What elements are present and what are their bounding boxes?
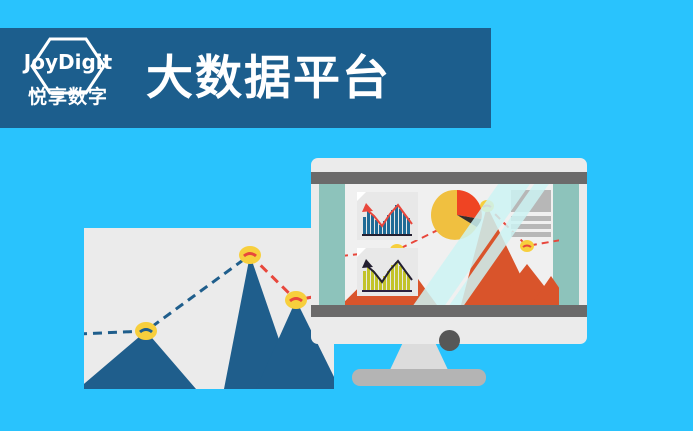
- monitor-stand-base: [352, 369, 486, 386]
- left-mountain-chart: [84, 228, 334, 389]
- logo-wordmark: JoyDigit: [24, 52, 112, 72]
- card-chart-olive[interactable]: [357, 248, 418, 296]
- screen-left-strip: [319, 184, 345, 305]
- chart-axis: [362, 290, 412, 292]
- up-arrow-icon: [362, 259, 373, 268]
- up-arrow-icon: [362, 203, 373, 212]
- mountain-shape-left: [84, 255, 296, 389]
- monitor-top-bezel: [311, 172, 587, 184]
- chart-axis: [362, 234, 412, 236]
- power-indicator: [439, 330, 460, 351]
- placeholder-line-3: [511, 232, 551, 237]
- monitor-stand-neck: [389, 344, 449, 372]
- page-title: 大数据平台: [146, 55, 391, 102]
- monitor-bottom-bezel: [311, 305, 587, 317]
- desktop-monitor: [311, 158, 587, 344]
- brand-logo: JoyDigit 悦享数字: [12, 35, 124, 121]
- data-point-markers: [135, 246, 307, 340]
- left-chart-panel: [84, 228, 334, 389]
- olive-bar-chart: [357, 248, 418, 296]
- header-banner: JoyDigit 悦享数字 大数据平台: [0, 28, 491, 128]
- logo-subtitle: 悦享数字: [28, 88, 108, 107]
- monitor-screen: [319, 184, 579, 305]
- card-chart-blue[interactable]: [357, 192, 418, 240]
- trend-line-blue: [84, 255, 250, 334]
- blue-bar-chart: [357, 192, 418, 240]
- poster-canvas: JoyDigit 悦享数字 大数据平台: [0, 0, 693, 431]
